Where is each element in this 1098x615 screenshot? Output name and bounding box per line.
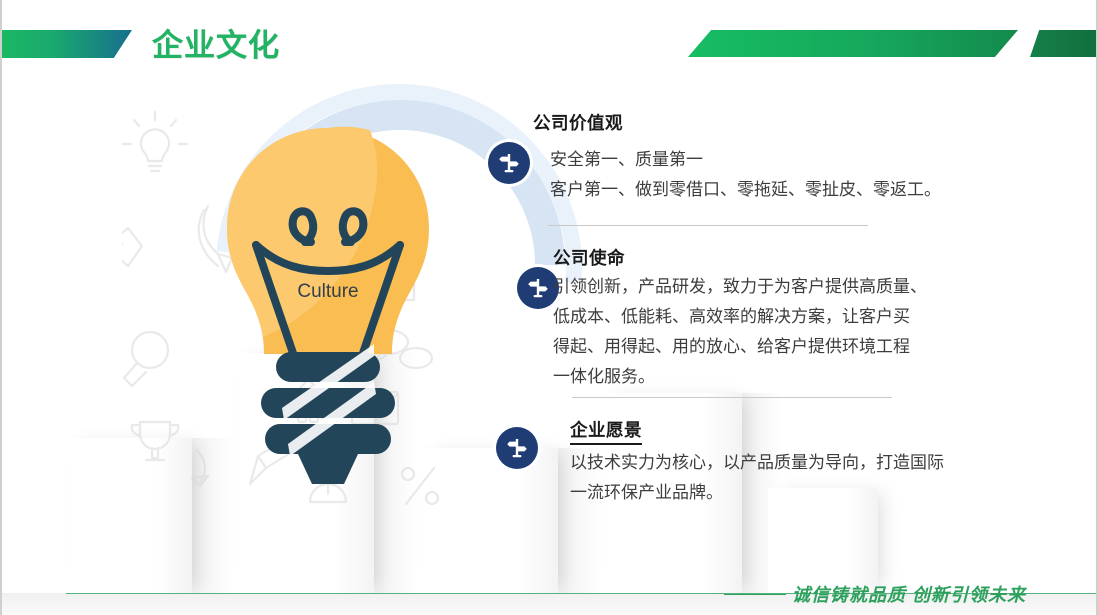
page-title: 企业文化 xyxy=(152,20,280,65)
magnifier-icon xyxy=(124,332,168,386)
signpost-glyph xyxy=(497,151,521,175)
trophy-icon xyxy=(132,422,179,460)
footer-rule xyxy=(724,594,786,596)
block-body-company-values: 安全第一、质量第一 客户第一、做到零借口、零拖延、零扯皮、零返工。 xyxy=(550,145,1050,205)
header-right-accent-1 xyxy=(688,30,1018,57)
signpost-icon xyxy=(488,142,530,184)
divider-2 xyxy=(572,397,892,398)
idea-bulb-icon xyxy=(123,112,187,171)
lightbulb-illustration: Culture xyxy=(198,120,458,500)
signpost-icon xyxy=(496,427,538,469)
footer-slogan: 诚信铸就品质 创新引领未来 xyxy=(792,581,1026,607)
block-title-company-values: 公司价值观 xyxy=(533,110,623,135)
block-title-company-mission: 公司使命 xyxy=(553,245,625,270)
block-title-enterprise-vision: 企业愿景 xyxy=(570,417,642,445)
signpost-glyph xyxy=(505,436,529,460)
divider-1 xyxy=(548,225,868,226)
block-body-enterprise-vision: 以技术实力为核心，以产品质量为导向，打造国际 一流环保产业品牌。 xyxy=(570,448,1060,508)
signpost-glyph xyxy=(526,276,550,300)
header-right-accent-2 xyxy=(1030,30,1096,57)
header-left-accent xyxy=(2,30,132,58)
hand-icon xyxy=(122,228,142,266)
bulb-base xyxy=(261,344,395,484)
block-body-company-mission: 引领创新，产品研发，致力于为客户提供高质量、 低成本、低能耗、高效率的解决方案，… xyxy=(553,272,1053,392)
bulb-label: Culture xyxy=(297,281,358,302)
slide-root: Culture 企业文化 公司价值观 安全第一、质量第一 客户第一、做到零借口、… xyxy=(0,0,1098,615)
